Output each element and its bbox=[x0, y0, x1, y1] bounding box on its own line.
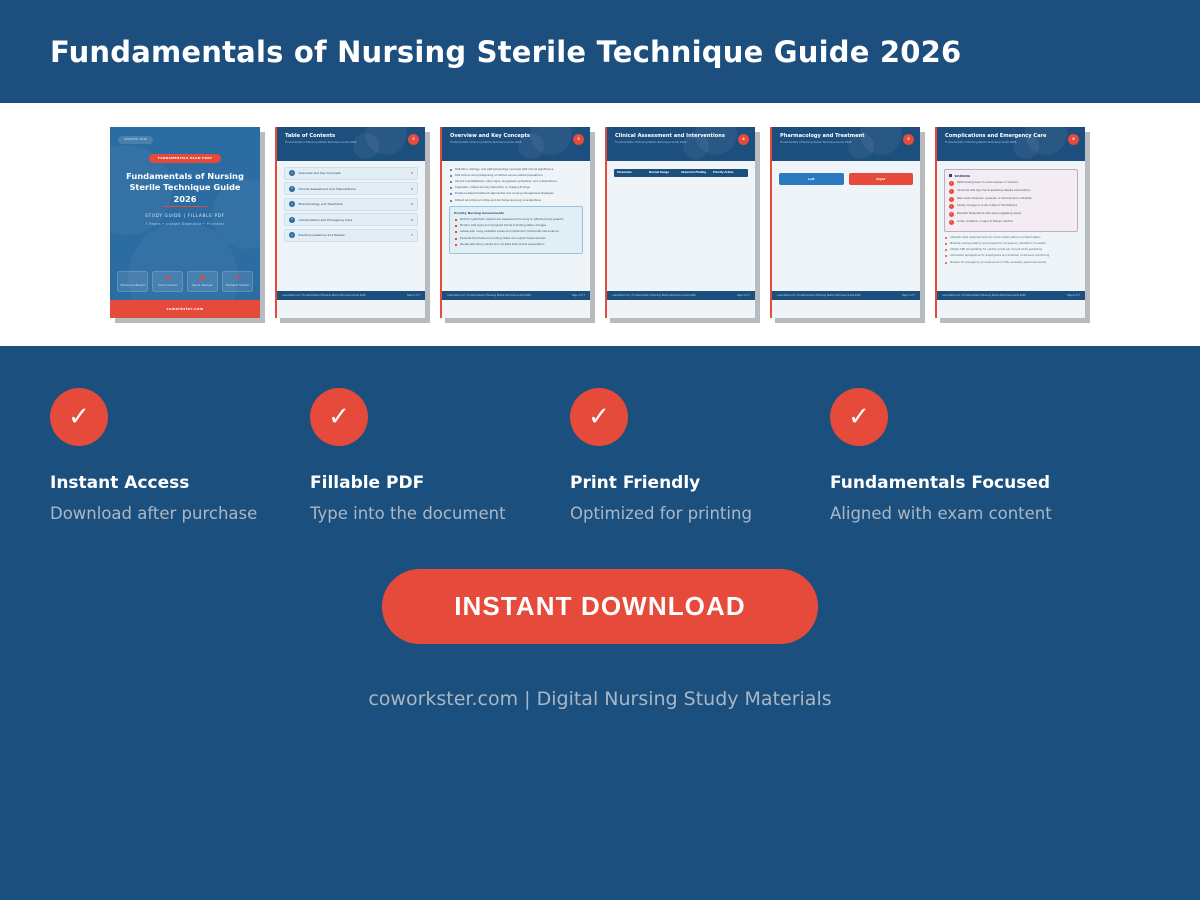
list-item: !Elevated temperature with signs suggest… bbox=[949, 212, 1073, 217]
page-heading: Complications and Emergency Care bbox=[945, 133, 1077, 139]
list-item-text: Abnormal vital sign trends persisting de… bbox=[957, 189, 1030, 192]
list-item: Risk factors and predisposing conditions… bbox=[449, 174, 583, 177]
updated-badge: UPDATED 2026 bbox=[118, 136, 153, 144]
cover-footer: coworkster.com bbox=[110, 300, 260, 318]
alert-icon: ! bbox=[949, 189, 954, 194]
list-item: !Acute, unilateral, or signs of allergic… bbox=[949, 220, 1073, 225]
page-footer-left: coworkster.com | Fundamentals of Nursing… bbox=[282, 294, 366, 297]
list-item: Patient education priorities and dischar… bbox=[449, 199, 583, 202]
priority-callout: Priority Nursing Assessments Perform sys… bbox=[449, 206, 583, 254]
list-item-text: Initiate CPR immediately for cardiac arr… bbox=[950, 248, 1042, 251]
list-item-text: Airway changes or acute output or fluid … bbox=[957, 204, 1017, 207]
page-footer-left: coworkster.com | Fundamentals of Nursing… bbox=[942, 294, 1026, 297]
list-item: Monitor vital signs and recognize trends… bbox=[454, 224, 578, 227]
page-footer-left: coworkster.com | Fundamentals of Nursing… bbox=[447, 294, 531, 297]
toc-item[interactable]: 1 Overview and Key Concepts 3 bbox=[284, 167, 418, 180]
list-item-text: Evidence-based treatment approaches and … bbox=[455, 192, 554, 195]
page-heading: Overview and Key Concepts bbox=[450, 133, 582, 139]
bullet-icon bbox=[455, 238, 457, 240]
toc-item[interactable]: 4 Complications and Emergency Care 6 bbox=[284, 213, 418, 226]
bullet-icon bbox=[450, 200, 452, 202]
toc-item[interactable]: 3 Pharmacology and Treatment 5 bbox=[284, 198, 418, 211]
page-subheading: Fundamentals of Nursing Sterile Techniqu… bbox=[615, 141, 747, 144]
alert-icon: ! bbox=[949, 181, 954, 186]
page-heading: Clinical Assessment and Interventions bbox=[615, 133, 747, 139]
page-footer: coworkster.com | Fundamentals of Nursing… bbox=[772, 291, 920, 300]
page-body: Definition, etiology, and pathophysiolog… bbox=[442, 161, 590, 300]
toc-label: Clinical Assessment and Interventions bbox=[299, 187, 412, 191]
cover-subtitle: STUDY GUIDE | FILLABLE PDF bbox=[110, 213, 260, 218]
list-item-text: Patient education priorities and dischar… bbox=[455, 199, 541, 202]
feature-print-friendly: ✓ Print Friendly Optimized for printing bbox=[570, 388, 830, 523]
site-footer: coworkster.com | Digital Nursing Study M… bbox=[0, 688, 1200, 710]
list-item: Prepare for emergency procedures and not… bbox=[944, 261, 1078, 264]
page-body: WARNING !Deteriorating level of consciou… bbox=[937, 161, 1085, 300]
page-footer-right: Page 2 of 7 bbox=[407, 294, 420, 297]
cover-page[interactable]: UPDATED 2026 FUNDAMENTALS EXAM PREP Fund… bbox=[110, 127, 260, 318]
page-footer-right: Page 5 of 7 bbox=[902, 294, 915, 297]
bullet-icon bbox=[945, 255, 947, 257]
toc-number: 1 bbox=[289, 170, 295, 176]
square-icon: ■ bbox=[189, 276, 216, 281]
list-item: Initiate CPR immediately for cardiac arr… bbox=[944, 248, 1078, 251]
page-number-badge: 3 bbox=[573, 134, 584, 145]
toc-number: 3 bbox=[289, 201, 295, 207]
thumbnail-strip: UPDATED 2026 FUNDAMENTALS EXAM PREP Fund… bbox=[0, 103, 1200, 346]
list-item-text: Perform systematic head-to-toe assessmen… bbox=[460, 218, 563, 221]
check-icon: ✓ bbox=[50, 388, 108, 446]
page-heading: Pharmacology and Treatment bbox=[780, 133, 912, 139]
feature-title: Print Friendly bbox=[570, 473, 830, 493]
list-item-text: Definition, etiology, and pathophysiolog… bbox=[455, 168, 553, 171]
list-item-text: New onset chest pain, dyspnea, or hemody… bbox=[957, 197, 1032, 200]
thumbnail-page-5[interactable]: Pharmacology and Treatment Fundamentals … bbox=[770, 127, 925, 323]
thumbnail-page-4[interactable]: Clinical Assessment and Interventions Fu… bbox=[605, 127, 760, 323]
feature-instant-access: ✓ Instant Access Download after purchase bbox=[50, 388, 310, 523]
page-number-badge: 5 bbox=[903, 134, 914, 145]
page-header: Fundamentals of Nursing Sterile Techniqu… bbox=[0, 0, 1200, 103]
exam-prep-badge: FUNDAMENTALS EXAM PREP bbox=[149, 154, 221, 163]
bullet-icon bbox=[455, 225, 457, 227]
list-item-text: Evaluate fluid balance including intake … bbox=[460, 237, 546, 240]
page-6[interactable]: Complications and Emergency Care Fundame… bbox=[935, 127, 1085, 318]
cta-section: INSTANT DOWNLOAD bbox=[0, 569, 1200, 644]
page-header-band: Clinical Assessment and Interventions Fu… bbox=[607, 127, 755, 161]
list-item-text: Assess pain using validated scales and i… bbox=[460, 230, 559, 233]
bullet-icon bbox=[450, 175, 452, 177]
feature-desc: Optimized for printing bbox=[570, 504, 830, 523]
feature-title: Fundamentals Focused bbox=[830, 473, 1090, 493]
cover-feature-label: Color Coded bbox=[154, 283, 181, 287]
list-item: Assess pain using validated scales and i… bbox=[454, 230, 578, 233]
list-item-text: Clinical manifestations: early signs, pr… bbox=[455, 180, 557, 183]
cover-feature-label: Quick Review bbox=[189, 283, 216, 287]
list-item-text: Acute, unilateral, or signs of allergic … bbox=[957, 220, 1013, 223]
list-item: Clinical manifestations: early signs, pr… bbox=[449, 180, 583, 183]
list-item: Activate rapid response team for acute d… bbox=[944, 236, 1078, 239]
feature-title: Instant Access bbox=[50, 473, 310, 493]
list-item: Perform systematic head-to-toe assessmen… bbox=[454, 218, 578, 221]
feature-fillable-pdf: ✓ Fillable PDF Type into the document bbox=[310, 388, 570, 523]
toc-item[interactable]: 2 Clinical Assessment and Interventions … bbox=[284, 182, 418, 195]
cover-divider bbox=[163, 206, 207, 208]
check-icon: ✓ bbox=[570, 388, 628, 446]
toc-page: 6 bbox=[411, 218, 413, 222]
toc-number: 5 bbox=[289, 232, 295, 238]
feature-desc: Download after purchase bbox=[50, 504, 310, 523]
feature-desc: Type into the document bbox=[310, 504, 570, 523]
page-heading: Table of Contents bbox=[285, 133, 417, 139]
list-item-text: Monitor vital signs and recognize trends… bbox=[460, 224, 546, 227]
page-footer: coworkster.com | Fundamentals of Nursing… bbox=[937, 291, 1085, 300]
page-header-band: Pharmacology and Treatment Fundamentals … bbox=[772, 127, 920, 161]
dot-icon: ● bbox=[154, 276, 181, 281]
page-number-badge: 4 bbox=[738, 134, 749, 145]
warning-box: WARNING !Deteriorating level of consciou… bbox=[944, 169, 1078, 232]
page-subheading: Fundamentals of Nursing Sterile Techniqu… bbox=[450, 141, 582, 144]
page-footer: coworkster.com | Fundamentals of Nursing… bbox=[607, 291, 755, 300]
cover-title-line1: Fundamentals of Nursing bbox=[118, 171, 252, 183]
bullet-icon bbox=[450, 187, 452, 189]
list-item-text: Elevated temperature with signs suggesti… bbox=[957, 212, 1021, 215]
page-4[interactable]: Clinical Assessment and Interventions Fu… bbox=[605, 127, 755, 318]
bullet-list: Definition, etiology, and pathophysiolog… bbox=[449, 168, 583, 202]
toc-label: Practice Questions and Review bbox=[299, 233, 412, 237]
check-icon: ✓ bbox=[310, 388, 368, 446]
toc-label: Complications and Emergency Care bbox=[299, 218, 412, 222]
list-item: !New onset chest pain, dyspnea, or hemod… bbox=[949, 197, 1073, 202]
page-number-badge: 6 bbox=[1068, 134, 1079, 145]
page-2[interactable]: Table of Contents Fundamentals of Nursin… bbox=[275, 127, 425, 318]
list-item: Administer epinephrine for anaphylaxis a… bbox=[944, 254, 1078, 257]
bar-left: Left bbox=[779, 173, 844, 185]
bullet-icon bbox=[455, 219, 457, 221]
callout-title: Priority Nursing Assessments bbox=[454, 211, 578, 215]
page-footer: coworkster.com | Fundamentals of Nursing… bbox=[277, 291, 425, 300]
comparison-bars: Left Right bbox=[779, 173, 913, 185]
page-body: 1 Overview and Key Concepts 3 2 Clinical… bbox=[277, 161, 425, 300]
cover-meta: 7 Pages • Instant Download • Printable bbox=[110, 222, 260, 226]
alert-icon: ! bbox=[949, 220, 954, 225]
page-title: Fundamentals of Nursing Sterile Techniqu… bbox=[50, 35, 961, 69]
list-item-text: Activate rapid response team for acute d… bbox=[950, 236, 1041, 239]
list-item: Evaluate fluid balance including intake … bbox=[454, 237, 578, 240]
list-item: !Airway changes or acute output or fluid… bbox=[949, 204, 1073, 209]
toc-page: 3 bbox=[411, 171, 413, 175]
check-icon: ✓ bbox=[830, 388, 888, 446]
table-column-header: Parameter bbox=[617, 171, 649, 174]
list-item: Evidence-based treatment approaches and … bbox=[449, 192, 583, 195]
table-column-header: Priority Action bbox=[713, 171, 745, 174]
page-header-band: Table of Contents Fundamentals of Nursin… bbox=[277, 127, 425, 161]
list-item-text: Administer epinephrine for anaphylaxis a… bbox=[950, 254, 1049, 257]
feature-fundamentals-focused: ✓ Fundamentals Focused Aligned with exam… bbox=[830, 388, 1090, 523]
cover-feature-label: Student Tested bbox=[224, 283, 251, 287]
alert-icon: ! bbox=[949, 204, 954, 209]
thumbnail-cover[interactable]: UPDATED 2026 FUNDAMENTALS EXAM PREP Fund… bbox=[110, 127, 265, 323]
bullet-icon bbox=[945, 237, 947, 239]
list-item-text: Review laboratory results and correlate … bbox=[460, 243, 544, 246]
page-header-band: Overview and Key Concepts Fundamentals o… bbox=[442, 127, 590, 161]
page-footer: coworkster.com | Fundamentals of Nursing… bbox=[442, 291, 590, 300]
toc-page: 4 bbox=[411, 187, 413, 191]
table-column-header: Abnormal Finding bbox=[681, 171, 713, 174]
page-header-band: Complications and Emergency Care Fundame… bbox=[937, 127, 1085, 161]
toc-page: 7 bbox=[411, 233, 413, 237]
features-section: ✓ Instant Access Download after purchase… bbox=[0, 346, 1200, 523]
list-item: Review laboratory results and correlate … bbox=[454, 243, 578, 246]
bullet-icon bbox=[450, 181, 452, 183]
page-subheading: Fundamentals of Nursing Sterile Techniqu… bbox=[945, 141, 1077, 144]
cover-feature-label: Evidence Based bbox=[119, 283, 146, 287]
table-column-header: Normal Range bbox=[649, 171, 681, 174]
cover-feature: ■ Quick Review bbox=[187, 271, 218, 292]
page-footer-right: Page 3 of 7 bbox=[572, 294, 585, 297]
page-3[interactable]: Overview and Key Concepts Fundamentals o… bbox=[440, 127, 590, 318]
cover-feature: ✓ Evidence Based bbox=[117, 271, 148, 292]
bullet-icon bbox=[450, 169, 452, 171]
list-item: !Abnormal vital sign trends persisting d… bbox=[949, 189, 1073, 194]
warning-icon bbox=[949, 174, 952, 177]
list-item-text: Deteriorating level of consciousness or … bbox=[957, 181, 1019, 184]
thumbnail-page-2[interactable]: Table of Contents Fundamentals of Nursin… bbox=[275, 127, 430, 323]
alert-icon: ! bbox=[949, 197, 954, 202]
feature-desc: Aligned with exam content bbox=[830, 504, 1090, 523]
list-item-text: Diagnostic criteria and key laboratory o… bbox=[455, 186, 530, 189]
list-item: Definition, etiology, and pathophysiolog… bbox=[449, 168, 583, 171]
alert-icon: ! bbox=[949, 212, 954, 217]
list-item-text: Risk factors and predisposing conditions… bbox=[455, 174, 543, 177]
toc-label: Pharmacology and Treatment bbox=[299, 202, 412, 206]
page-subheading: Fundamentals of Nursing Sterile Techniqu… bbox=[780, 141, 912, 144]
page-body: Parameter Normal Range Abnormal Finding … bbox=[607, 161, 755, 300]
page-subheading: Fundamentals of Nursing Sterile Techniqu… bbox=[285, 141, 417, 144]
page-footer-left: coworkster.com | Fundamentals of Nursing… bbox=[612, 294, 696, 297]
page-footer-right: Page 6 of 7 bbox=[1067, 294, 1080, 297]
warning-title: WARNING bbox=[949, 174, 1073, 178]
page-body: Left Right coworkster.com | Fundamentals… bbox=[772, 161, 920, 300]
page-footer-left: coworkster.com | Fundamentals of Nursing… bbox=[777, 294, 861, 297]
list-item: Maintain airway patency and prepare for … bbox=[944, 242, 1078, 245]
cover-feature: ▼ Student Tested bbox=[222, 271, 253, 292]
cover-feature-row: ✓ Evidence Based ● Color Coded ■ Quick R… bbox=[117, 271, 253, 292]
toc-number: 2 bbox=[289, 186, 295, 192]
bullet-icon bbox=[455, 231, 457, 233]
cover-feature: ● Color Coded bbox=[152, 271, 183, 292]
toc-page: 5 bbox=[411, 202, 413, 206]
bullet-icon bbox=[945, 249, 947, 251]
list-item-text: Prepare for emergency procedures and not… bbox=[950, 261, 1047, 264]
list-item: !Deteriorating level of consciousness or… bbox=[949, 181, 1073, 186]
cover-title-line2: Sterile Technique Guide 2026 bbox=[118, 182, 252, 206]
feature-title: Fillable PDF bbox=[310, 473, 570, 493]
page-number-badge: 2 bbox=[408, 134, 419, 145]
bullet-icon bbox=[455, 244, 457, 246]
warning-title-text: WARNING bbox=[955, 174, 971, 178]
toc-label: Overview and Key Concepts bbox=[299, 171, 412, 175]
bar-right: Right bbox=[849, 173, 914, 185]
table-header-row: Parameter Normal Range Abnormal Finding … bbox=[614, 169, 748, 177]
list-item: Diagnostic criteria and key laboratory o… bbox=[449, 186, 583, 189]
bullet-icon bbox=[450, 193, 452, 195]
toc-item[interactable]: 5 Practice Questions and Review 7 bbox=[284, 229, 418, 242]
triangle-icon: ▼ bbox=[224, 276, 251, 281]
thumbnail-page-6[interactable]: Complications and Emergency Care Fundame… bbox=[935, 127, 1090, 323]
emergency-action-list: Activate rapid response team for acute d… bbox=[944, 236, 1078, 264]
thumbnail-page-3[interactable]: Overview and Key Concepts Fundamentals o… bbox=[440, 127, 595, 323]
toc-number: 4 bbox=[289, 217, 295, 223]
bullet-icon bbox=[945, 243, 947, 245]
cover-title: Fundamentals of Nursing Sterile Techniqu… bbox=[118, 171, 252, 206]
bullet-icon bbox=[945, 262, 947, 264]
list-item-text: Maintain airway patency and prepare for … bbox=[950, 242, 1045, 245]
page-footer-right: Page 4 of 7 bbox=[737, 294, 750, 297]
instant-download-button[interactable]: INSTANT DOWNLOAD bbox=[382, 569, 818, 644]
page-5[interactable]: Pharmacology and Treatment Fundamentals … bbox=[770, 127, 920, 318]
check-icon: ✓ bbox=[119, 276, 146, 281]
